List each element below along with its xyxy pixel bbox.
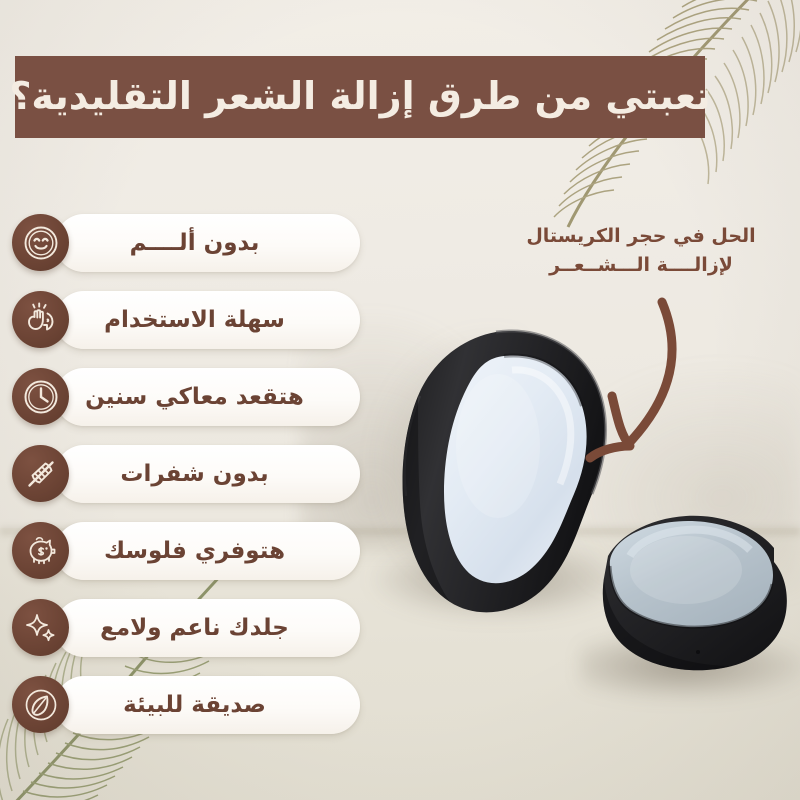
feature-label: صديقة للبيئة [123, 694, 266, 717]
feature-pill[interactable]: هتوفري فلوسك [55, 522, 360, 580]
annotation-line-1: الحل في حجر الكريستال [510, 222, 772, 251]
feature-pill[interactable]: بدون شفرات [55, 445, 360, 503]
feature-pill[interactable]: هتقعد معاكي سنين [55, 368, 360, 426]
feature-item-no-pain[interactable]: بدون ألــــم [0, 214, 380, 272]
feature-label: بدون ألــــم [130, 232, 260, 255]
feature-item-eco-friendly[interactable]: صديقة للبيئة [0, 676, 380, 734]
feature-label: بدون شفرات [120, 463, 268, 486]
sparkle-icon [12, 599, 69, 656]
headline-text: تعبتي من طرق إزالة الشعر التقليدية؟ [9, 77, 710, 115]
annotation-line-2: لإزالــــة الـــشــعــر [510, 251, 772, 280]
crystal-stone-flat [586, 500, 800, 692]
feature-pill[interactable]: جلدك ناعم ولامع [55, 599, 360, 657]
feature-item-easy-to-use[interactable]: سهلة الاستخدام [0, 291, 380, 349]
feature-label: جلدك ناعم ولامع [100, 617, 289, 640]
feature-item-long-lasting[interactable]: هتقعد معاكي سنين [0, 368, 380, 426]
curved-arrow-down-left-icon [572, 292, 742, 472]
feature-pill[interactable]: بدون ألــــم [55, 214, 360, 272]
headline-banner: تعبتي من طرق إزالة الشعر التقليدية؟ [15, 56, 705, 138]
feature-pill[interactable]: سهلة الاستخدام [55, 291, 360, 349]
feature-label: هتوفري فلوسك [104, 540, 285, 563]
feature-label: هتقعد معاكي سنين [85, 386, 304, 409]
poster-canvas: تعبتي من طرق إزالة الشعر التقليدية؟ بدون… [0, 0, 800, 800]
feature-item-no-blades[interactable]: بدون شفرات [0, 445, 380, 503]
smiley-face-icon [12, 214, 69, 271]
clock-icon [12, 368, 69, 425]
hand-gesture-icon [12, 291, 69, 348]
no-razor-icon [12, 445, 69, 502]
annotation-text-block: الحل في حجر الكريستال لإزالــــة الـــشـ… [510, 222, 772, 281]
feature-list: بدون ألــــم سهلة الاستخدام [0, 214, 380, 753]
feature-pill[interactable]: صديقة للبيئة [55, 676, 360, 734]
leaf-icon [12, 676, 69, 733]
piggy-bank-icon [12, 522, 69, 579]
feature-item-smooth-skin[interactable]: جلدك ناعم ولامع [0, 599, 380, 657]
feature-item-save-money[interactable]: هتوفري فلوسك [0, 522, 380, 580]
feature-label: سهلة الاستخدام [104, 309, 285, 332]
